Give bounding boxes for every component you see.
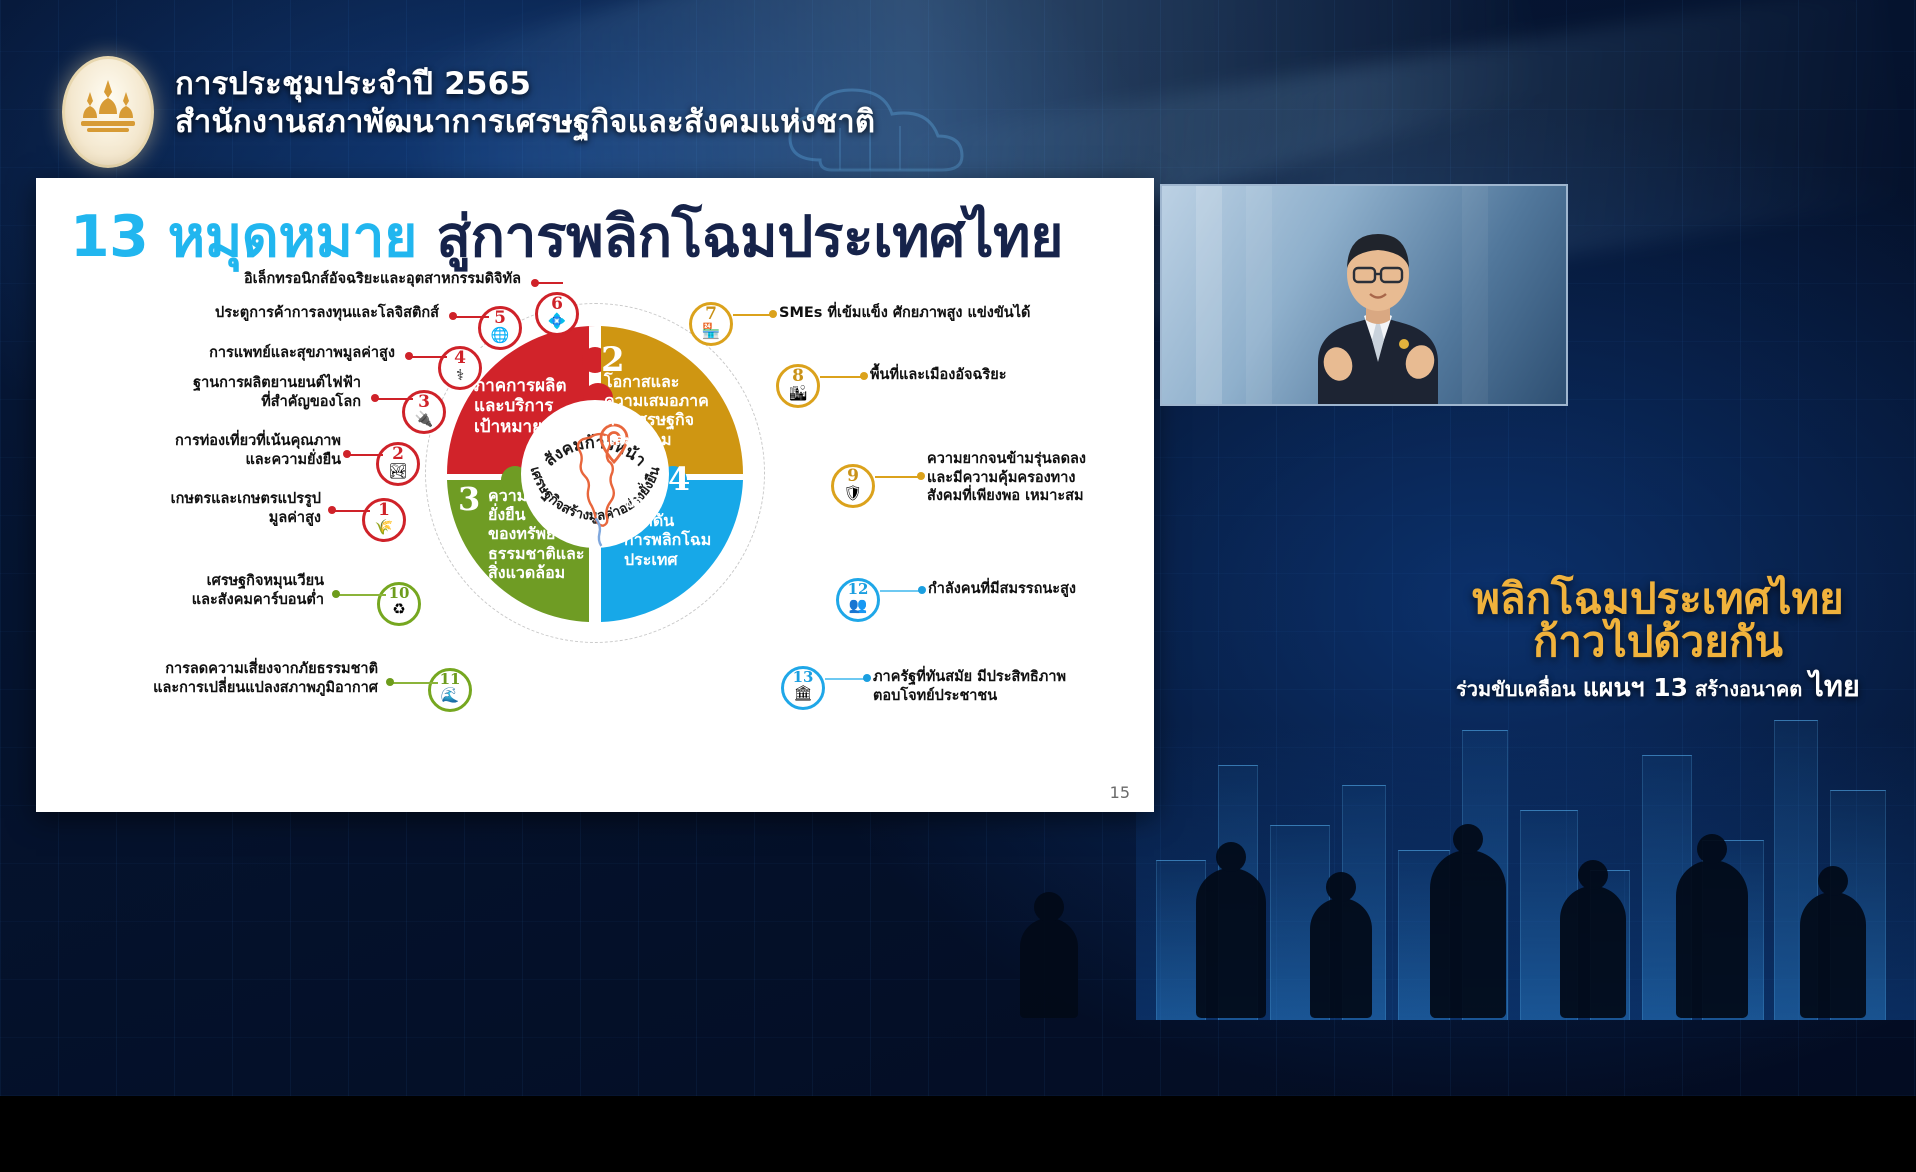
- connector-dot-11: [386, 678, 394, 686]
- promo-line-3a: ร่วมขับเคลื่อน: [1456, 677, 1583, 701]
- connector-8: [820, 376, 864, 378]
- milestone-node-4[interactable]: 4 ⚕: [438, 346, 482, 390]
- audience-silhouette: [1676, 860, 1748, 1018]
- digital-industry-icon: 💠: [548, 314, 567, 329]
- promo-line-1: พลิกโฉมประเทศไทย: [1448, 578, 1868, 621]
- milestone-number-5: 5: [494, 310, 506, 327]
- quadrant-3-number: 3: [458, 480, 480, 518]
- milestone-label-1: เกษตรและเกษตรแปรรูป มูลค่าสูง: [76, 490, 321, 527]
- milestone-label-5: ประตูการค้าการลงทุนและโลจิสติกส์: [96, 304, 439, 323]
- promo-line-3c: สร้างอนาคต: [1688, 677, 1809, 701]
- connector-12: [880, 590, 922, 592]
- speaker-video-inset[interactable]: [1160, 184, 1568, 406]
- milestone-node-2[interactable]: 2 🏞: [376, 442, 420, 486]
- connector-5: [455, 316, 489, 318]
- milestone-node-8[interactable]: 8 🏙: [776, 364, 820, 408]
- screen: การประชุมประจำปี 2565 สำนักงานสภาพัฒนากา…: [0, 0, 1916, 1172]
- connector-4: [411, 356, 447, 358]
- header-title-block: การประชุมประจำปี 2565 สำนักงานสภาพัฒนากา…: [175, 66, 875, 142]
- speaker-presenter: [1280, 212, 1476, 406]
- medical-health-icon: ⚕: [456, 368, 464, 383]
- milestone-number-2: 2: [392, 446, 404, 463]
- broadcast-promo: พลิกโฉมประเทศไทย ก้าวไปด้วยกัน ร่วมขับเค…: [1448, 578, 1868, 701]
- quadrant-1-label: ภาคการผลิต และบริการ เป้าหมาย: [474, 376, 592, 437]
- seal-artwork: [73, 72, 143, 152]
- connector-dot-8: [860, 372, 868, 380]
- connector-13: [825, 678, 867, 680]
- milestone-node-6[interactable]: 6 💠: [535, 292, 579, 336]
- milestone-number-7: 7: [705, 306, 717, 323]
- connector-dot-10: [332, 590, 340, 598]
- letterbox-bar: [0, 1096, 1916, 1172]
- connector-dot-4: [405, 352, 413, 360]
- milestone-label-8: พื้นที่และเมืองอัจฉริยะ: [870, 366, 1130, 385]
- presentation-slide: 13 หมุดหมาย สู่การพลิกโฉมประเทศไทย: [36, 178, 1154, 812]
- connector-7: [733, 314, 773, 316]
- connector-11: [392, 682, 438, 684]
- audience-silhouette: [1310, 898, 1372, 1018]
- milestone-node-7[interactable]: 7 🏪: [689, 302, 733, 346]
- milestone-node-10[interactable]: 10 ♻: [377, 582, 421, 626]
- milestone-label-6: อิเล็กทรอนิกส์อัจฉริยะและอุตสาหกรรมดิจิท…: [96, 270, 521, 289]
- audience-silhouette: [1430, 850, 1506, 1018]
- climate-risk-icon: 🌊: [441, 688, 460, 703]
- quadrant-2-label: โอกาสและ ความเสมอภาค ทางเศรษฐกิจ และสังค…: [604, 372, 734, 449]
- header-line-1: การประชุมประจำปี 2565: [175, 66, 875, 104]
- milestone-node-12[interactable]: 12 👥: [836, 578, 880, 622]
- connector-dot-12: [918, 586, 926, 594]
- header-line-2: สำนักงานสภาพัฒนาการเศรษฐกิจและสังคมแห่งช…: [175, 104, 875, 142]
- milestone-label-4: การแพทย์และสุขภาพมูลค่าสูง: [96, 344, 395, 363]
- milestone-number-9: 9: [847, 468, 859, 485]
- milestone-number-8: 8: [792, 368, 804, 385]
- slide-page-number: 15: [1110, 783, 1130, 802]
- milestone-label-11: การลดความเสี่ยงจากภัยธรรมชาติ และการเปลี…: [46, 660, 378, 697]
- smart-city-icon: 🏙: [788, 386, 807, 401]
- connector-dot-3: [371, 394, 379, 402]
- connector-1: [334, 510, 370, 512]
- connector-dot-13: [863, 674, 871, 682]
- audience-silhouette: [1560, 886, 1626, 1018]
- connector-3: [377, 398, 413, 400]
- milestone-node-9[interactable]: 9 🛡: [831, 464, 875, 508]
- promo-line-2: ก้าวไปด้วยกัน: [1448, 621, 1868, 664]
- milestone-node-5[interactable]: 5 🌐: [478, 306, 522, 350]
- audience-silhouette: [1020, 918, 1078, 1018]
- social-protection-icon: 🛡: [843, 486, 862, 501]
- connector-dot-2: [343, 450, 351, 458]
- milestone-node-1[interactable]: 1 🌾: [362, 498, 406, 542]
- milestone-number-6: 6: [551, 296, 563, 313]
- sme-shop-icon: 🏪: [702, 324, 721, 339]
- milestone-node-11[interactable]: 11 🌊: [428, 668, 472, 712]
- milestone-label-13: ภาครัฐที่ทันสมัย มีประสิทธิภาพ ตอบโจทย์ป…: [873, 668, 1153, 705]
- ev-production-icon: 🔌: [415, 412, 434, 427]
- milestone-node-13[interactable]: 13 🏛: [781, 666, 825, 710]
- milestone-node-3[interactable]: 3 🔌: [402, 390, 446, 434]
- connector-2: [349, 454, 383, 456]
- quadrant-3-label: ความ ยั่งยืน ของทรัพยากร ธรรมชาติและ สิ่…: [488, 486, 620, 582]
- milestone-label-10: เศรษฐกิจหมุนเวียน และสังคมคาร์บอนต่ำ: [66, 572, 324, 609]
- connector-dot-5: [449, 312, 457, 320]
- milestones-diagram: สังคมก้าวหน้า เศรษฐกิจสร้างมูลค่าอย่างยั…: [36, 264, 1154, 812]
- milestone-number-1: 1: [378, 502, 390, 519]
- milestone-label-12: กำลังคนที่มีสมรรถนะสูง: [928, 580, 1154, 599]
- connector-dot-9: [917, 472, 925, 480]
- quadrant-4-label: ปัจจัย ผลักดัน การพลิกโฉม ประเทศ: [624, 492, 744, 569]
- promo-line-3b: แผนฯ 13: [1583, 673, 1688, 702]
- milestone-number-4: 4: [454, 350, 466, 367]
- connector-10: [338, 594, 386, 596]
- connector-dot-1: [328, 506, 336, 514]
- milestone-label-9: ความยากจนข้ามรุ่นลดลง และมีความคุ้มครองท…: [927, 450, 1149, 506]
- milestone-number-10: 10: [389, 586, 410, 601]
- promo-line-3d: ไทย: [1809, 669, 1860, 703]
- connector-6: [537, 282, 563, 284]
- milestone-label-3: ฐานการผลิตยานยนต์ไฟฟ้า ที่สำคัญของโลก: [96, 374, 361, 411]
- milestone-number-11: 11: [440, 672, 461, 687]
- milestone-number-3: 3: [418, 394, 430, 411]
- quadrant-2-number: 2: [601, 340, 625, 380]
- connector-9: [875, 476, 921, 478]
- title-accent: 13 หมุดหมาย: [70, 204, 417, 270]
- milestone-label-2: การท่องเที่ยวที่เน้นคุณภาพ และความยั่งยื…: [76, 432, 341, 469]
- connector-dot-6: [531, 279, 539, 287]
- recycle-icon: ♻: [392, 602, 405, 617]
- quadrant-4-number: 4: [668, 460, 690, 498]
- agriculture-icon: 🌾: [375, 520, 394, 535]
- milestone-number-12: 12: [848, 582, 869, 597]
- promo-line-3: ร่วมขับเคลื่อน แผนฯ 13 สร้างอนาคต ไทย: [1448, 672, 1868, 702]
- audience-silhouette: [1196, 868, 1266, 1018]
- trade-logistics-icon: 🌐: [491, 328, 510, 343]
- event-header: การประชุมประจำปี 2565 สำนักงานสภาพัฒนากา…: [0, 0, 1916, 180]
- audience-silhouette: [1800, 892, 1866, 1018]
- connector-dot-7: [769, 310, 777, 318]
- national-seal-icon: [62, 56, 154, 168]
- tourism-icon: 🏞: [388, 464, 407, 479]
- workforce-icon: 👥: [849, 598, 868, 613]
- government-icon: 🏛: [793, 686, 812, 701]
- milestone-number-13: 13: [793, 670, 814, 685]
- milestone-label-7: SMEs ที่เข้มแข็ง ศักยภาพสูง แข่งขันได้: [779, 304, 1109, 323]
- title-main: สู่การพลิกโฉมประเทศไทย: [417, 204, 1063, 270]
